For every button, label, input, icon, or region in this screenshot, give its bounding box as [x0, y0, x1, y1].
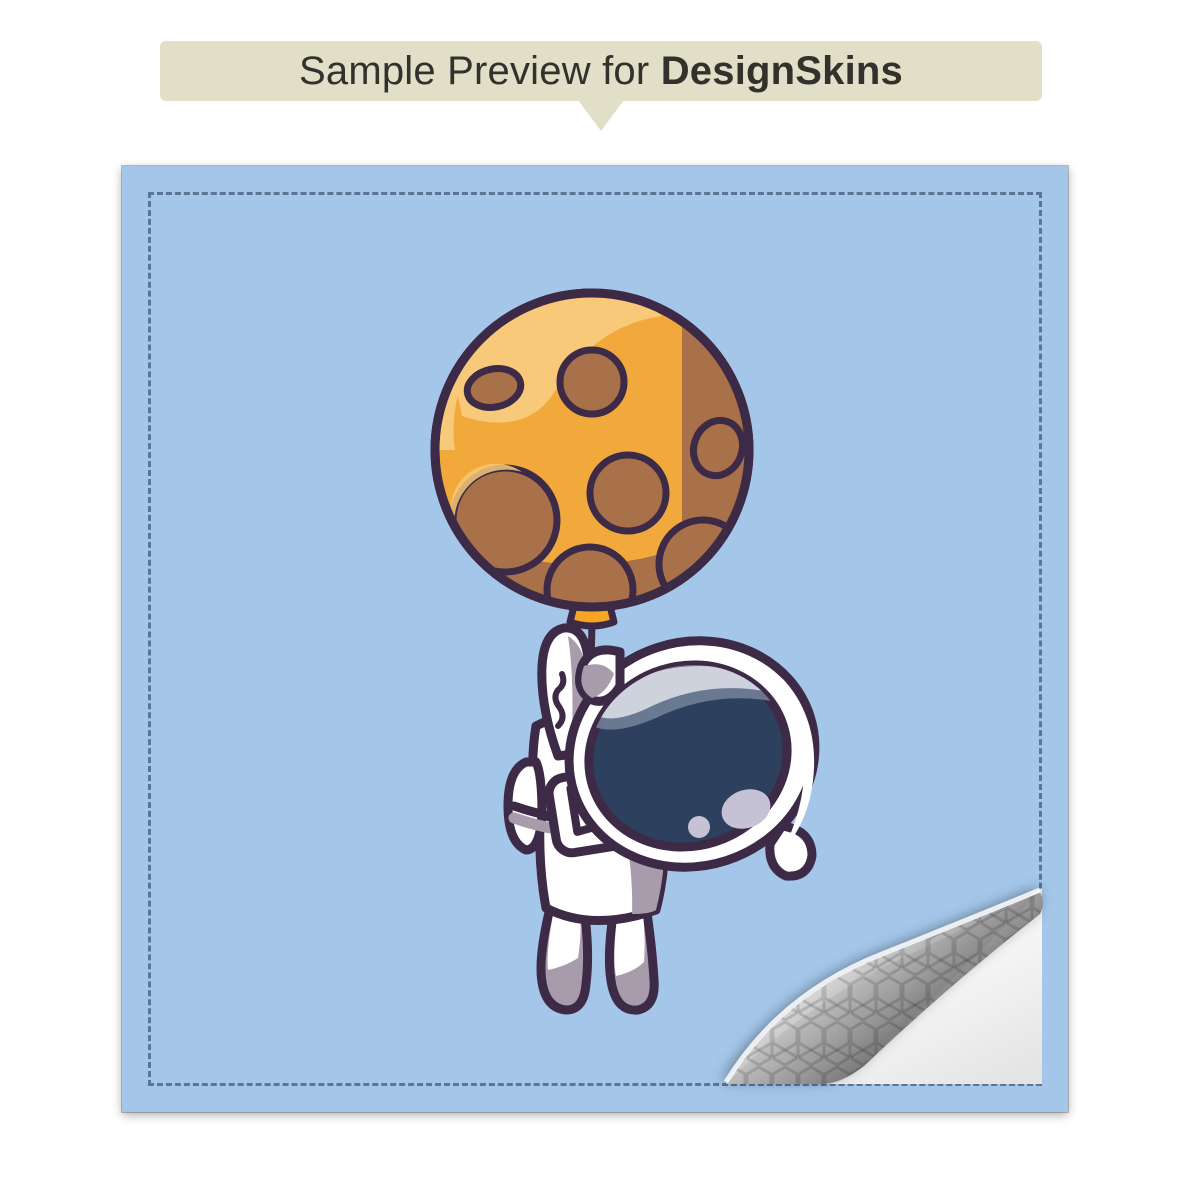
- banner-body: Sample Preview for DesignSkins: [160, 41, 1042, 101]
- preview-banner: Sample Preview for DesignSkins: [160, 41, 1042, 101]
- visor-highlight-small: [688, 816, 710, 838]
- banner-tail-pointer: [578, 100, 624, 131]
- moon-crater-2: [560, 350, 624, 414]
- banner-text-brand: DesignSkins: [661, 49, 903, 93]
- preview-page: Sample Preview for DesignSkins: [0, 0, 1200, 1200]
- moon-balloon-group: [435, 290, 766, 633]
- banner-text: Sample Preview for DesignSkins: [299, 49, 903, 94]
- astronaut-group: [508, 609, 845, 1010]
- sticker-canvas[interactable]: [122, 166, 1068, 1112]
- moon-crater-4: [590, 455, 666, 531]
- banner-text-normal: Sample Preview for: [299, 49, 661, 93]
- astronaut-moon-illustration: [122, 166, 1068, 1112]
